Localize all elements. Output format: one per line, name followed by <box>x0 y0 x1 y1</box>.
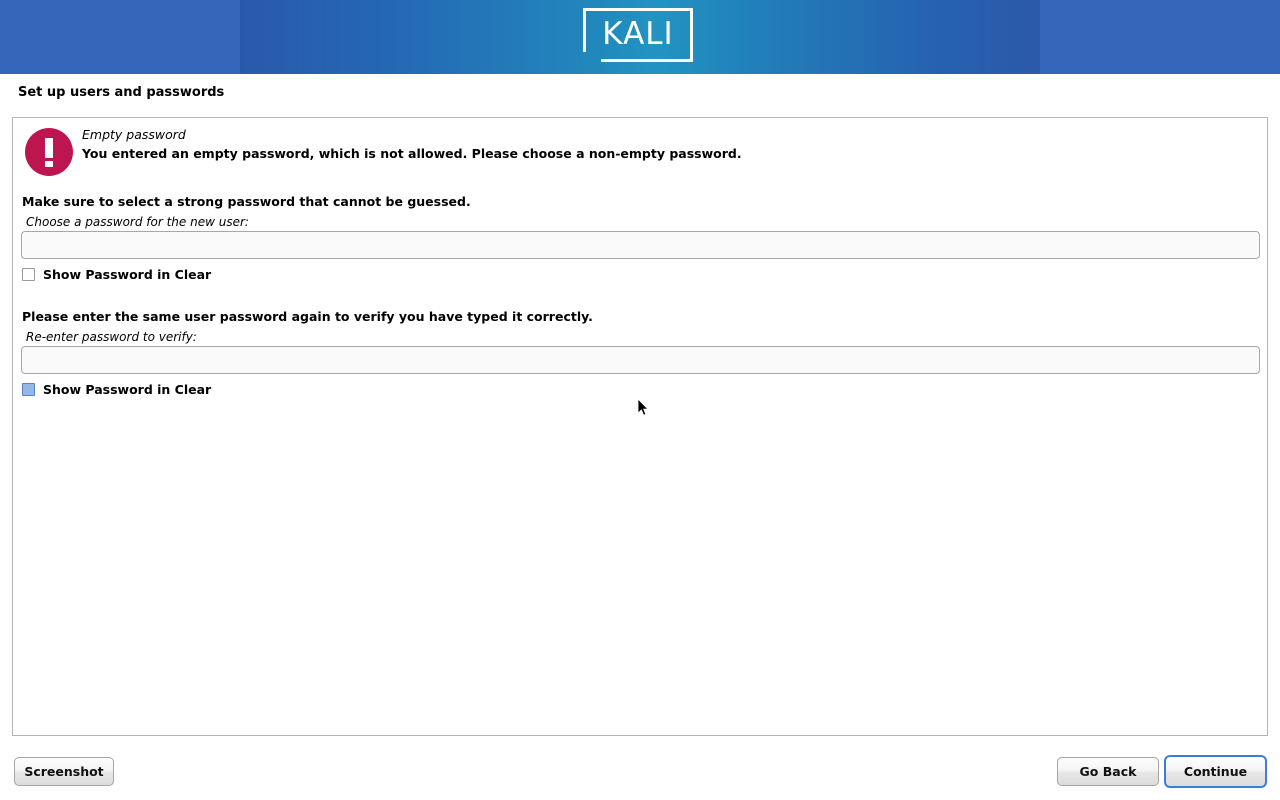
go-back-button[interactable]: Go Back <box>1057 757 1159 786</box>
password-field-label: Choose a password for the new user: <box>26 215 249 229</box>
kali-logo: KALI <box>583 8 697 66</box>
error-message: You entered an empty password, which is … <box>82 146 742 161</box>
banner-right-panel <box>1040 0 1280 74</box>
show-password-label-2: Show Password in Clear <box>43 382 211 397</box>
continue-button[interactable]: Continue <box>1164 755 1267 788</box>
show-password-label-1: Show Password in Clear <box>43 267 211 282</box>
banner-left-panel <box>0 0 240 74</box>
verify-section-heading: Please enter the same user password agai… <box>22 309 593 324</box>
error-title: Empty password <box>82 127 186 142</box>
installer-screen: KALI Set up users and passwords Empty pa… <box>0 0 1280 800</box>
verify-field-label: Re-enter password to verify: <box>26 330 197 344</box>
verify-password-input[interactable] <box>21 346 1260 374</box>
password-section-heading: Make sure to select a strong password th… <box>22 194 471 209</box>
error-icon-bar <box>45 138 53 158</box>
kali-logo-text: KALI <box>583 8 693 62</box>
kali-banner: KALI <box>0 0 1280 74</box>
main-content-panel: Empty password You entered an empty pass… <box>12 117 1268 736</box>
error-notice: Empty password You entered an empty pass… <box>13 118 1267 190</box>
password-input[interactable] <box>21 231 1260 259</box>
page-title: Set up users and passwords <box>18 85 224 100</box>
show-password-checkbox-1[interactable] <box>22 268 35 281</box>
screenshot-button[interactable]: Screenshot <box>14 757 114 786</box>
error-icon-dot <box>45 161 53 167</box>
show-password-checkbox-2[interactable] <box>22 383 35 396</box>
error-exclamation-icon <box>25 128 73 176</box>
